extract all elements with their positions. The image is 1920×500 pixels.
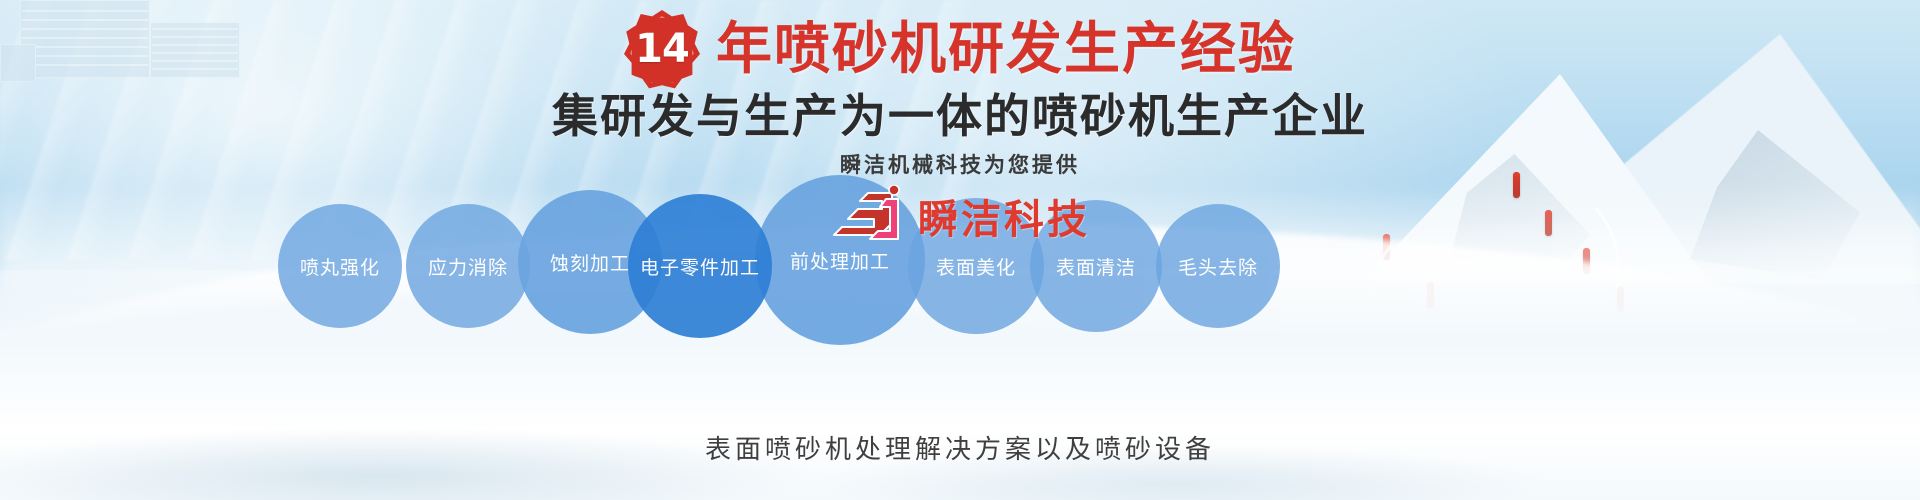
service-circle-label: 应力消除 (428, 253, 508, 280)
headline-block: 14 年喷砂机研发生产经验 集研发与生产为一体的喷砂机生产企业 瞬洁机械科技为您… (0, 14, 1920, 179)
service-circle-label: 前处理加工 (790, 247, 890, 274)
brand-name: 瞬洁科技 (918, 187, 1090, 245)
years-badge-number: 14 (624, 10, 700, 90)
headline-subline: 瞬洁机械科技为您提供 (0, 149, 1920, 179)
service-circle-label: 电子零件加工 (640, 253, 760, 280)
headline-red: 年喷砂机研发生产经验 (716, 22, 1296, 78)
years-badge: 14 (624, 10, 700, 90)
promo-banner: 喷丸强化应力消除蚀刻加工电子零件加工前处理加工表面美化表面清洁毛头去除 14 年… (0, 0, 1920, 500)
service-circle-label: 表面美化 (936, 253, 1016, 280)
headline-primary-row: 14 年喷砂机研发生产经验 (0, 14, 1920, 86)
brand-logo: 瞬洁科技 (0, 185, 1920, 247)
service-circle-label: 表面清洁 (1056, 253, 1136, 280)
sj-monogram-icon (830, 185, 904, 247)
bottom-tagline: 表面喷砂机处理解决方案以及喷砂设备 (0, 429, 1920, 466)
service-circle-label: 毛头去除 (1178, 253, 1258, 280)
service-circle-label: 喷丸强化 (300, 253, 380, 280)
headline-dark: 集研发与生产为一体的喷砂机生产企业 (0, 90, 1920, 143)
service-circle-label: 蚀刻加工 (550, 249, 630, 276)
